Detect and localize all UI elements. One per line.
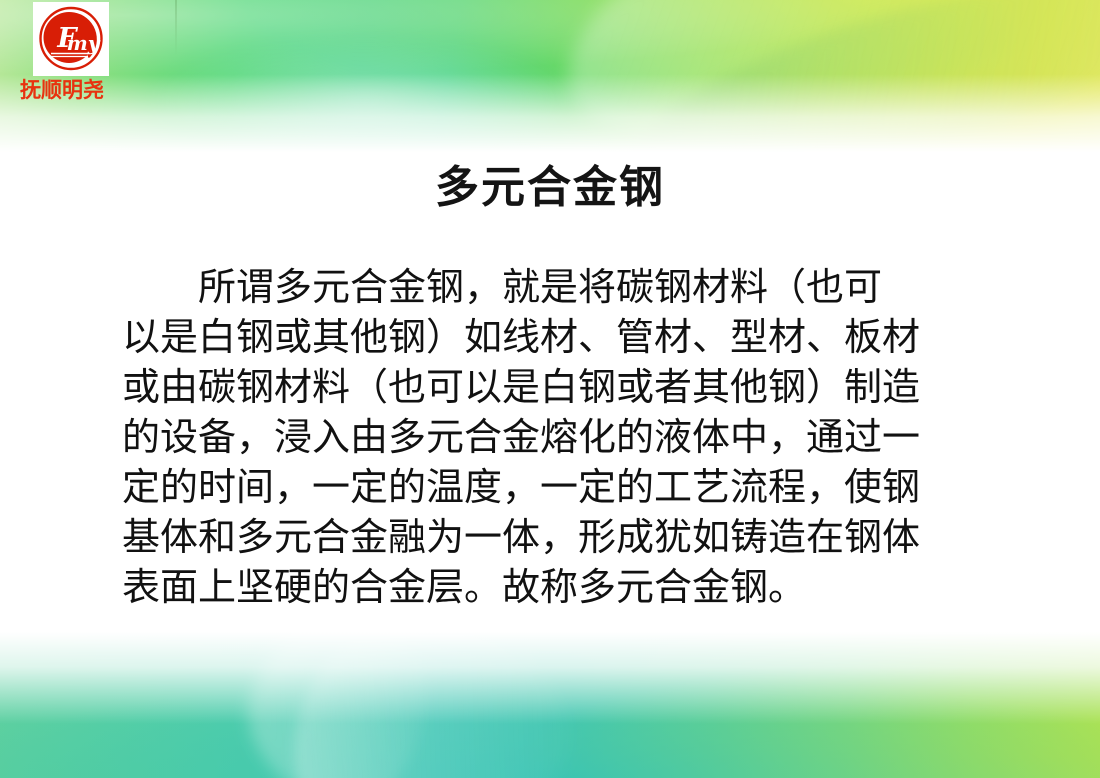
- company-logo: F my 抚顺明尧: [14, 2, 144, 102]
- logo-caption-text: 抚顺明尧: [20, 79, 144, 102]
- svg-text:my: my: [67, 31, 101, 55]
- presentation-slide: F my 抚顺明尧 多元合金钢 所谓多元合金钢，就是将碳钢材料（也可 以是白钢或…: [0, 0, 1100, 778]
- fmy-circle-logo-icon: F my: [33, 2, 109, 76]
- page-title: 多元合金钢: [0, 166, 1100, 210]
- slide-content: 多元合金钢 所谓多元合金钢，就是将碳钢材料（也可 以是白钢或其他钢）如线材、管材…: [0, 0, 1100, 778]
- slide-body-paragraph: 所谓多元合金钢，就是将碳钢材料（也可 以是白钢或其他钢）如线材、管材、型材、板材…: [122, 262, 1030, 612]
